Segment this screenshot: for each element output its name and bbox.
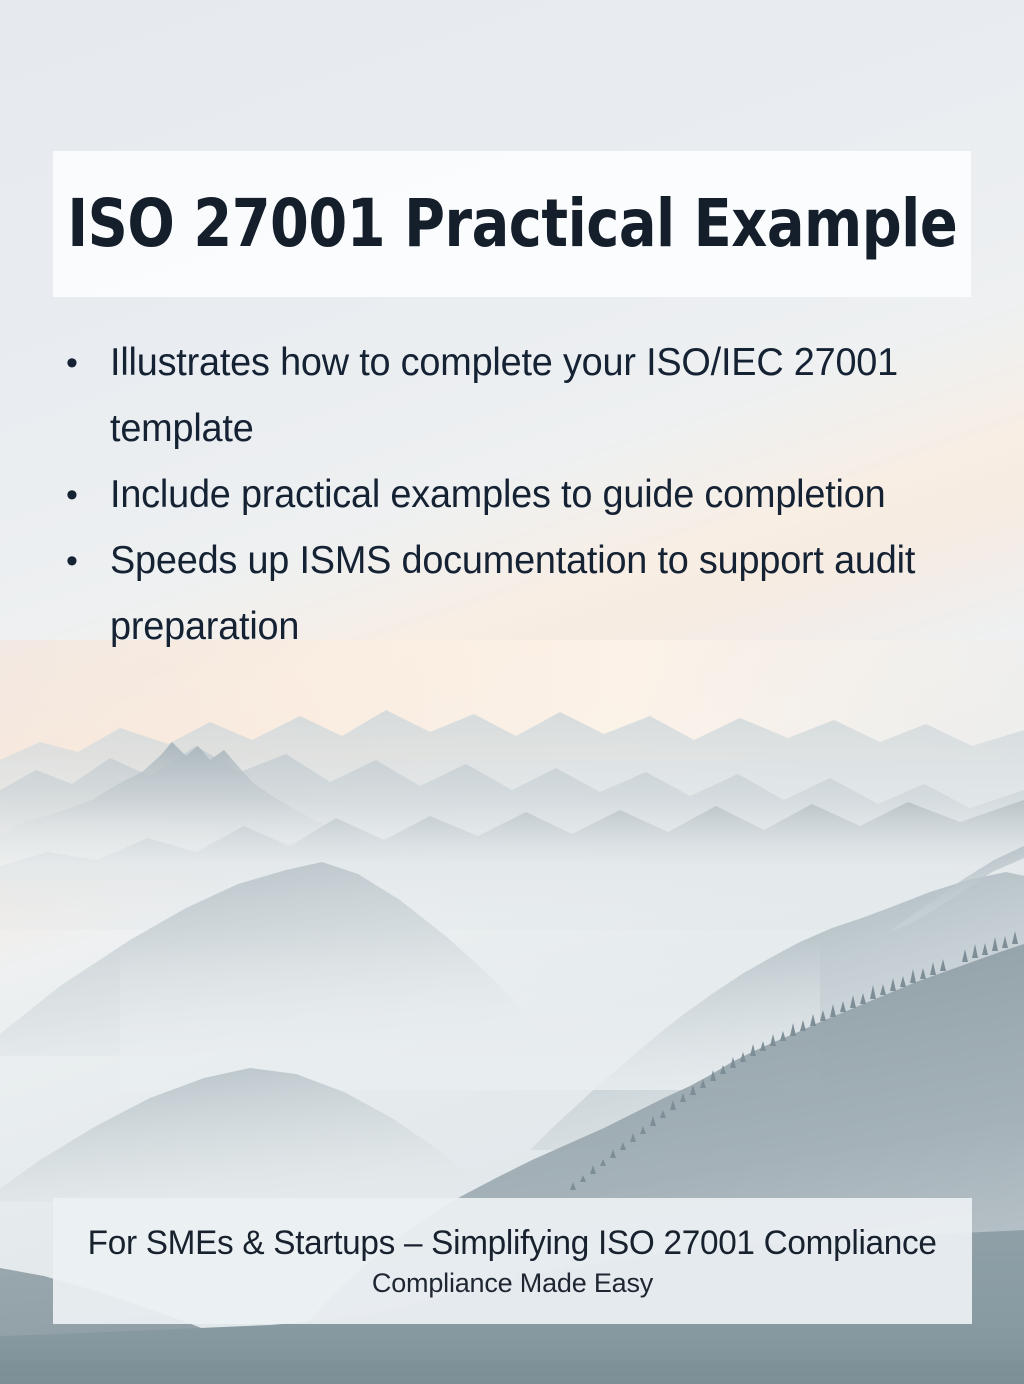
footer-tagline: For SMEs & Startups – Simplifying ISO 27…	[88, 1221, 937, 1265]
title-banner: ISO 27001 Practical Example	[53, 151, 971, 297]
bullet-marker-icon: •	[53, 330, 110, 396]
list-item: • Include practical examples to guide co…	[53, 462, 973, 528]
list-item-label: Speeds up ISMS documentation to support …	[110, 528, 944, 660]
page-title: ISO 27001 Practical Example	[67, 191, 957, 257]
bullet-marker-icon: •	[53, 528, 110, 594]
bullet-marker-icon: •	[53, 462, 110, 528]
list-item-label: Include practical examples to guide comp…	[110, 462, 944, 528]
key-points-list: • Illustrates how to complete your ISO/I…	[53, 330, 973, 660]
footer-banner: For SMEs & Startups – Simplifying ISO 27…	[53, 1198, 972, 1324]
list-item: • Illustrates how to complete your ISO/I…	[53, 330, 973, 462]
footer-subtitle: Compliance Made Easy	[372, 1265, 653, 1301]
list-item-label: Illustrates how to complete your ISO/IEC…	[110, 330, 944, 462]
list-item: • Speeds up ISMS documentation to suppor…	[53, 528, 973, 660]
slide-canvas: ISO 27001 Practical Example • Illustrate…	[0, 0, 1024, 1384]
